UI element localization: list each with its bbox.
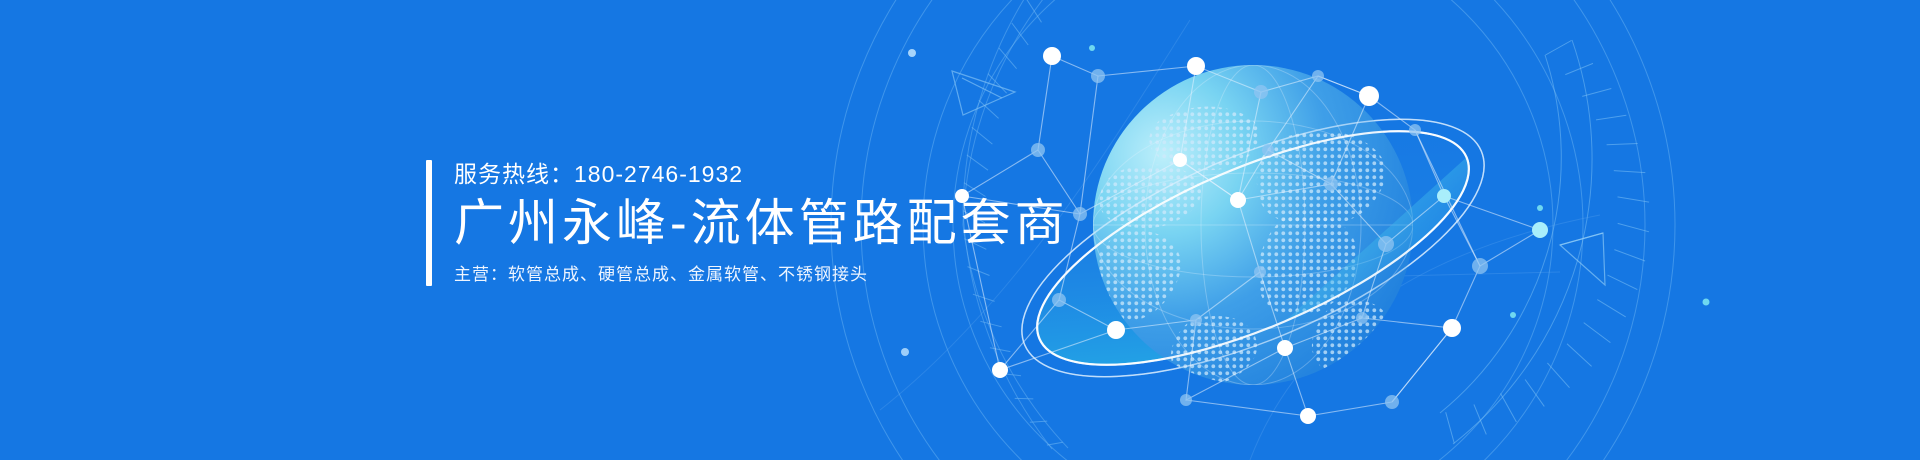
promo-banner: 服务热线：180-2746-1932 广州永峰-流体管路配套商 主营：软管总成、… (0, 0, 1920, 460)
service-hotline: 服务热线：180-2746-1932 (454, 160, 1069, 189)
globe-sphere (1092, 65, 1413, 385)
banner-text-block: 服务热线：180-2746-1932 广州永峰-流体管路配套商 主营：软管总成、… (426, 160, 1069, 286)
page-title: 广州永峰-流体管路配套商 (454, 193, 1069, 254)
accent-bar (426, 160, 432, 286)
text-column: 服务热线：180-2746-1932 广州永峰-流体管路配套商 主营：软管总成、… (454, 160, 1069, 286)
product-subtitle: 主营：软管总成、硬管总成、金属软管、不锈钢接头 (454, 264, 1069, 286)
